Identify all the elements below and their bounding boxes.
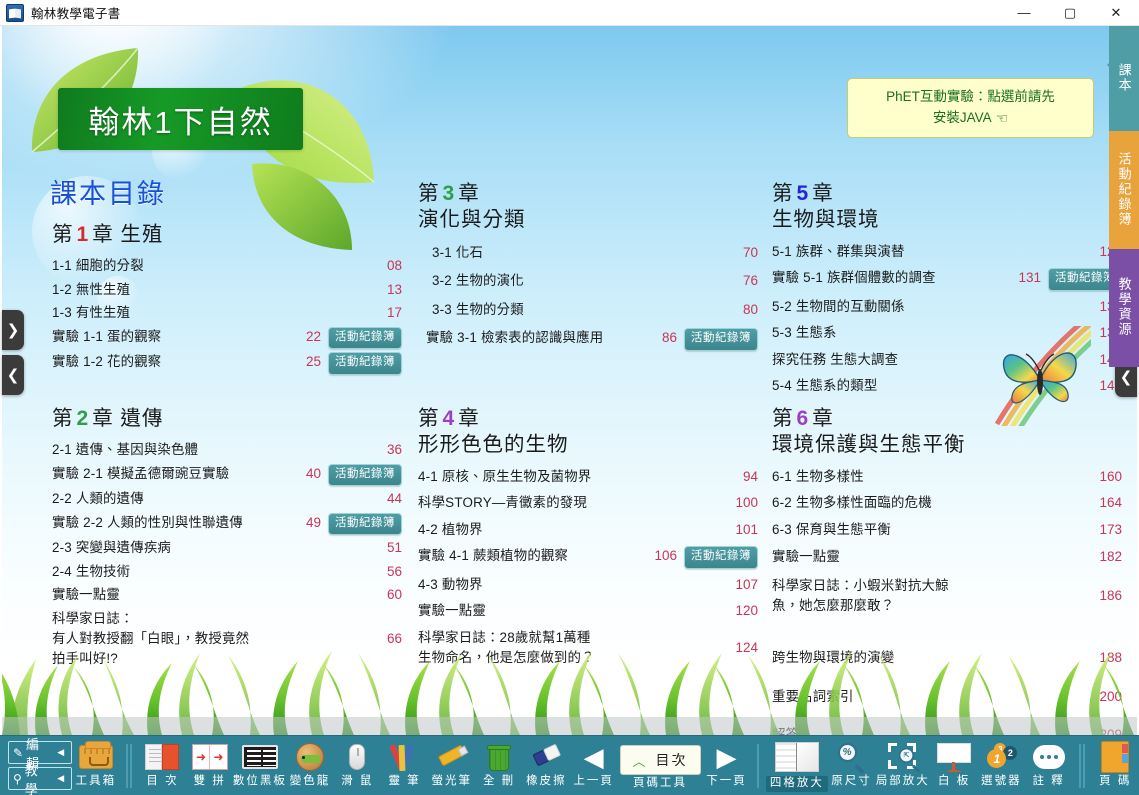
toc-entry[interactable]: 6-2 生物多樣性面臨的危機 164 — [772, 490, 1122, 517]
mouse-icon — [349, 740, 365, 774]
toc-entry[interactable]: 實驗 3-1 檢索表的認識與應用 86 活動紀錄簿 — [418, 324, 758, 355]
sidebar-tab-textbook[interactable]: 課本 — [1109, 26, 1139, 131]
toc-entry-label: 1-2 無性生殖 — [52, 280, 366, 300]
toolbox-icon — [79, 740, 113, 774]
toc-entry[interactable]: 實驗 2-1 模擬孟德爾豌豆實驗 40 活動紀錄簿 — [52, 462, 402, 488]
minimize-button[interactable]: — — [1001, 0, 1047, 26]
toc-entry[interactable]: 實驗 4-1 蕨類植物的觀察 106 活動紀錄簿 — [418, 543, 758, 572]
prev-page-button[interactable]: ◀ 上一頁 — [570, 736, 617, 795]
toc-entry-label: 4-2 植物界 — [418, 520, 718, 540]
actual-size-icon: % — [838, 740, 866, 774]
right-arrow-icon: ▶ — [716, 740, 736, 774]
chapter-name: 形形色色的生物 — [418, 432, 758, 457]
toolbar-separator — [757, 744, 759, 788]
next-page-label: 下一頁 — [706, 776, 747, 788]
toc-entry-page: 44 — [366, 489, 402, 510]
toc-column-2: 第3章 演化與分類 3-1 化石 70 3-2 生物的演化 76 — [418, 181, 758, 355]
chapter-prefix: 第 — [52, 223, 74, 246]
tool-highlighter-label: 螢光筆 — [432, 776, 473, 788]
book-title-text: 翰林1下自然 — [88, 97, 272, 142]
notebook-icon — [1101, 740, 1129, 774]
toc-entry[interactable]: 4-3 動物界 107 — [418, 572, 758, 599]
toc-entry[interactable]: 3-3 生物的分類 80 — [418, 296, 758, 325]
toc-entry-label: 實驗 4-1 蕨類植物的觀察 — [418, 546, 637, 566]
tool-toolbox-label: 工具箱 — [76, 776, 117, 788]
toc-entry-page: 60 — [366, 585, 402, 606]
toc-entry-label: 6-2 生物多樣性面臨的危機 — [772, 493, 1082, 513]
toc-entry-label: 5-1 族群、群集與演替 — [772, 242, 1082, 262]
tool-whiteboard[interactable]: 白 板 — [930, 736, 977, 795]
chapter-name: 生物與環境 — [772, 207, 1122, 232]
chapter-name: 生殖 — [120, 223, 163, 246]
chapter-block: 第4章 形形色色的生物 4-1 原核、原生生物及菌物界 94 科學STORY—青… — [418, 406, 758, 671]
tool-annotation[interactable]: 註 釋 — [1025, 736, 1072, 795]
chapter-name: 環境保護與生態平衡 — [772, 432, 1122, 457]
toc-entry-label: 實驗一點靈 — [52, 585, 366, 605]
toc-entry-label: 2-3 突變與遺傳疾病 — [52, 538, 366, 558]
toc-entry-page: 173 — [1082, 520, 1122, 541]
toc-entry[interactable]: 實驗 1-1 蛋的觀察 22 活動紀錄簿 — [52, 325, 402, 351]
toc-entry-page: 22 — [285, 327, 321, 348]
right-tab-rail: 課本 活動紀錄簿 教學資源 — [1109, 26, 1139, 367]
tool-eraser[interactable]: 橡皮擦 — [523, 736, 570, 795]
chapter-suffix: 章 — [458, 407, 480, 430]
tool-page-number-label: 頁 碼 — [1099, 776, 1131, 788]
toc-entry-page: 08 — [366, 256, 402, 277]
chapter-prefix: 第 — [418, 182, 440, 205]
window-title-bar: 翰林教學電子書 — ▢ ✕ — [0, 0, 1139, 26]
tool-magic-pen[interactable]: 靈 筆 — [381, 736, 428, 795]
phet-notice-line2-row: 安裝JAVA ☜ — [933, 108, 1008, 129]
chapter-number: 5 — [794, 182, 813, 205]
toc-entry-page: 13 — [366, 280, 402, 301]
toc-entry-label: 實驗一點靈 — [418, 601, 718, 621]
activity-record-badge[interactable]: 活動紀錄簿 — [684, 546, 758, 569]
sidebar-tab-activity-record-label: 活動紀錄簿 — [1116, 152, 1131, 227]
toc-entry[interactable]: 5-4 生態系的類型 148 — [772, 373, 1122, 400]
dual-page-icon: ➜➜ — [192, 740, 228, 774]
toc-entry[interactable]: 2-2 人類的遺傳 44 — [52, 488, 402, 512]
toc-entry[interactable]: 跨生物與環境的演變 188 — [772, 639, 1122, 678]
chapter-entry-list: 1-1 細胞的分裂 08 1-2 無性生殖 13 1-3 有性生殖 17 實 — [52, 255, 402, 377]
page-number-tool-button[interactable]: ︿ 目次 頁碼工具 — [617, 736, 703, 795]
chapter-entry-list: 6-1 生物多樣性 160 6-2 生物多樣性面臨的危機 164 6-3 保育與… — [772, 464, 1122, 621]
teach-mode-button[interactable]: ⚲ 教 學 ◀ — [8, 767, 72, 790]
chapter-prefix: 第 — [772, 407, 794, 430]
chapter-name: 遺傳 — [120, 407, 163, 430]
window-title: 翰林教學電子書 — [31, 3, 121, 22]
chapter-suffix: 章 — [92, 407, 114, 430]
chapter-entry-list: 4-1 原核、原生生物及菌物界 94 科學STORY—青黴素的發現 100 4-… — [418, 464, 758, 672]
toc-entry-page: 107 — [718, 575, 758, 596]
chapter-heading: 第2章 遺傳 — [52, 406, 402, 432]
tool-actual-size-label: 原尺寸 — [831, 776, 872, 788]
chapter-entry-list: 2-1 遺傳、基因與染色體 36 實驗 2-1 模擬孟德爾豌豆實驗 40 活動紀… — [52, 439, 402, 672]
chevron-up-icon: ︿ — [633, 751, 646, 770]
toc-entry-label: 實驗 1-1 蛋的觀察 — [52, 327, 285, 347]
toc-entry-label: 實驗 2-2 人類的性別與性聯遺傳 — [52, 513, 285, 533]
region-zoom-icon: ⇱ — [888, 740, 918, 774]
sidebar-tab-textbook-label: 課本 — [1116, 63, 1131, 93]
toc-entry-label: 實驗 1-2 花的觀察 — [52, 352, 285, 372]
toc-column-1-lower: 第2章 遺傳 2-1 遺傳、基因與染色體 36 實驗 2-1 模擬孟德爾豌豆實驗… — [52, 406, 402, 671]
toc-entry-page: 124 — [718, 638, 758, 659]
tool-chameleon-label: 變色龍 — [290, 776, 331, 788]
pointing-hand-icon: ☜ — [996, 108, 1009, 129]
phet-notice-line2: 安裝JAVA — [933, 108, 992, 128]
page-jump-pill[interactable]: ︿ 目次 — [620, 745, 701, 775]
toc-entry-label: 2-1 遺傳、基因與染色體 — [52, 440, 366, 460]
highlighter-icon — [437, 740, 467, 774]
page-number-tool-label: 頁碼工具 — [633, 778, 687, 790]
chapter-suffix: 章 — [92, 223, 114, 246]
toc-entry[interactable]: 1-2 無性生殖 13 — [52, 278, 402, 302]
toc-entry[interactable]: 實驗一點靈 60 — [52, 584, 402, 608]
toc-entry-page: 160 — [1082, 467, 1122, 488]
chapter-block: 第6章 環境保護與生態平衡 6-1 生物多樣性 160 6-2 生物多樣性面臨的… — [772, 406, 1122, 620]
toc-entry[interactable]: 6-3 保育與生態平衡 173 — [772, 517, 1122, 544]
toc-entry-page: 86 — [637, 328, 677, 349]
appendix-entry-list: 跨生物與環境的演變 188 重要名詞索引 200 解答 209 — [772, 639, 1122, 735]
chapter-entry-list: 5-1 族群、群集與演替 128 實驗 5-1 族群個體數的調查 131 活動紀… — [772, 239, 1122, 400]
toc-entry[interactable]: 4-2 植物界 101 — [418, 517, 758, 544]
toc-entry-label: 科學家日誌： 有人對教授翻「白眼」，教授竟然 拍手叫好!? — [52, 609, 366, 670]
toc-entry-page: 120 — [718, 601, 758, 622]
toc-entry[interactable]: 1-1 細胞的分裂 08 — [52, 255, 402, 279]
toc-entry[interactable]: 科學家日誌： 有人對教授翻「白眼」，教授竟然 拍手叫好!? 66 — [52, 607, 402, 671]
toc-entry[interactable]: 探究任務 生態大調查 144 — [772, 347, 1122, 374]
activity-record-badge[interactable]: 活動紀錄簿 — [684, 328, 758, 351]
tool-page-number[interactable]: 頁 碼 — [1092, 736, 1139, 795]
toc-entry-label: 2-4 生物技術 — [52, 562, 366, 582]
toc-entry-page: 164 — [1082, 493, 1122, 514]
activity-record-badge[interactable]: 活動紀錄簿 — [328, 352, 402, 375]
toc-entry[interactable]: 實驗 2-2 人類的性別與性聯遺傳 49 活動紀錄簿 — [52, 511, 402, 537]
toc-entry[interactable]: 科學家日誌：28歲就幫1萬種 生物命名，他是怎麼做到的？ 124 — [418, 625, 758, 672]
toc-entry[interactable]: 5-2 生物間的互動關係 134 — [772, 294, 1122, 321]
annotation-icon — [1033, 740, 1065, 774]
toc-column-1: 第1章 生殖 1-1 細胞的分裂 08 1-2 無性生殖 13 1-3 有性生殖 — [52, 222, 402, 376]
chapter-suffix: 章 — [458, 182, 480, 205]
toc-entry-label: 重要名詞索引 — [772, 687, 1082, 707]
tool-magic-pen-label: 靈 筆 — [388, 776, 420, 788]
toc-entry-page: 94 — [718, 467, 758, 488]
sidebar-tab-teaching-resources[interactable]: 教學資源 — [1109, 249, 1139, 367]
toc-entry[interactable]: 5-3 生態系 137 — [772, 320, 1122, 347]
chapter-suffix: 章 — [812, 407, 834, 430]
toc-entry-label: 實驗 3-1 檢索表的認識與應用 — [426, 328, 637, 348]
active-tab-caret-icon — [1100, 58, 1114, 72]
chapter-number: 3 — [440, 182, 459, 205]
toc-entry-page: 80 — [718, 300, 758, 321]
chapter-heading: 第3章 演化與分類 — [418, 181, 758, 232]
toc-entry-label: 6-1 生物多樣性 — [772, 467, 1082, 487]
chapter-number: 6 — [794, 407, 813, 430]
toc-entry[interactable]: 解答 209 — [772, 716, 1122, 735]
maximize-button[interactable]: ▢ — [1047, 0, 1093, 26]
toc-entry-page: 76 — [718, 271, 758, 292]
toc-entry[interactable]: 重要名詞索引 200 — [772, 678, 1122, 717]
toc-entry[interactable]: 實驗一點靈 120 — [418, 598, 758, 625]
toc-entry[interactable]: 2-4 生物技術 56 — [52, 560, 402, 584]
toc-entry-label: 3-1 化石 — [432, 243, 718, 263]
chapter-heading: 第4章 形形色色的生物 — [418, 406, 758, 457]
toc-entry-page: 25 — [285, 352, 321, 373]
toc-entry-page: 70 — [718, 243, 758, 264]
tool-delete-all[interactable]: 全 刪 — [475, 736, 522, 795]
toc-entry-page: 49 — [285, 513, 321, 534]
toc-entry[interactable]: 6-1 生物多樣性 160 — [772, 464, 1122, 491]
phet-notice-line1: PhET互動實驗：點選前請先 — [886, 87, 1055, 107]
prev-page-label: 上一頁 — [573, 776, 614, 788]
pencil-icon: ✎ — [13, 746, 23, 760]
toc-entry-label: 科學家日誌：小蝦米對抗大鯨 魚，她怎麼那麼敢？ — [772, 576, 1082, 617]
close-button[interactable]: ✕ — [1093, 0, 1139, 26]
blackboard-icon — [242, 740, 278, 774]
chapter-heading: 第6章 環境保護與生態平衡 — [772, 406, 1122, 457]
toc-entry-page: 209 — [1082, 725, 1122, 735]
book-title-plate: 翰林1下自然 — [58, 88, 303, 150]
toc-column-2-lower: 第4章 形形色色的生物 4-1 原核、原生生物及菌物界 94 科學STORY—青… — [418, 406, 758, 671]
activity-record-badge[interactable]: 活動紀錄簿 — [328, 464, 402, 487]
toc-entry[interactable]: 2-1 遺傳、基因與染色體 36 — [52, 439, 402, 463]
phet-java-notice[interactable]: PhET互動實驗：點選前請先 安裝JAVA ☜ — [847, 78, 1094, 138]
teach-mode-label: 教 學 — [25, 760, 55, 795]
tool-delete-all-label: 全 刪 — [483, 776, 515, 788]
tool-actual-size[interactable]: % 原尺寸 — [828, 736, 875, 795]
toc-entry-label: 5-2 生物間的互動關係 — [772, 297, 1082, 317]
mode-switch-group: ✎ 編 輯 ◀ ⚲ 教 學 ◀ — [0, 736, 72, 790]
tool-dual-page[interactable]: ➜➜ 雙 拼 — [186, 736, 233, 795]
tool-contents-label: 目 次 — [146, 776, 178, 788]
toc-column-3: 第5章 生物與環境 5-1 族群、群集與演替 128 實驗 5-1 族群個體數的… — [772, 181, 1122, 400]
toc-entry-label: 實驗 5-1 族群個體數的調查 — [772, 268, 1001, 288]
chapter-number: 2 — [74, 407, 93, 430]
tool-contents[interactable]: 目 次 — [139, 736, 186, 795]
toc-entry-page: 51 — [366, 538, 402, 559]
tool-region-zoom[interactable]: ⇱ 局部放大 — [875, 736, 930, 795]
toc-entry-page: 188 — [1082, 648, 1122, 669]
chameleon-icon — [296, 740, 324, 774]
trash-icon — [487, 740, 511, 774]
chapter-block: 第5章 生物與環境 5-1 族群、群集與演替 128 實驗 5-1 族群個體數的… — [772, 181, 1122, 400]
next-page-button[interactable]: ▶ 下一頁 — [703, 736, 750, 795]
toc-entry[interactable]: 4-1 原核、原生生物及菌物界 94 — [418, 464, 758, 491]
toc-entry-label: 2-2 人類的遺傳 — [52, 489, 366, 509]
tool-chameleon[interactable]: 變色龍 — [286, 736, 333, 795]
number-picker-icon: 321 — [985, 740, 1017, 774]
toc-entry-page: 106 — [637, 546, 677, 567]
tool-region-zoom-label: 局部放大 — [876, 776, 930, 788]
toc-entry[interactable]: 實驗 5-1 族群個體數的調查 131 活動紀錄簿 — [772, 265, 1122, 294]
bottom-toolbar: ✎ 編 輯 ◀ ⚲ 教 學 ◀ 工具箱 目 次 — [0, 735, 1139, 795]
chapter-entry-list: 3-1 化石 70 3-2 生物的演化 76 3-3 生物的分類 80 實驗 — [418, 239, 758, 355]
sidebar-tab-activity-record[interactable]: 活動紀錄簿 — [1109, 131, 1139, 249]
toc-entry-page: 131 — [1001, 268, 1041, 289]
tool-eraser-label: 橡皮擦 — [526, 776, 567, 788]
tool-mouse[interactable]: 滑 鼠 — [334, 736, 381, 795]
toc-entry[interactable]: 實驗 1-2 花的觀察 25 活動紀錄簿 — [52, 351, 402, 377]
tool-toolbox[interactable]: 工具箱 — [72, 736, 119, 795]
toc-entry-page: 186 — [1082, 586, 1122, 607]
toc-entry-page: 200 — [1082, 687, 1122, 708]
tool-quad-zoom[interactable]: 四格放大 — [766, 736, 828, 795]
book-page: 翰林1下自然 PhET互動實驗：點選前請先 安裝JAVA ☜ 課本目錄 — [2, 26, 1137, 735]
toc-entry-label: 3-3 生物的分類 — [432, 300, 718, 320]
toc-entry[interactable]: 實驗一點靈 182 — [772, 543, 1122, 572]
chapter-prefix: 第 — [52, 407, 74, 430]
tool-mouse-label: 滑 鼠 — [341, 776, 373, 788]
chapter-heading: 第1章 生殖 — [52, 222, 402, 248]
chapter-block: 第1章 生殖 1-1 細胞的分裂 08 1-2 無性生殖 13 1-3 有性生殖 — [52, 222, 402, 376]
toc-entry-page: 100 — [718, 493, 758, 514]
chapter-block: 第2章 遺傳 2-1 遺傳、基因與染色體 36 實驗 2-1 模擬孟德爾豌豆實驗… — [52, 406, 402, 671]
toc-entry[interactable]: 科學家日誌：小蝦米對抗大鯨 魚，她怎麼那麼敢？ 186 — [772, 572, 1122, 621]
book-app-icon — [6, 4, 24, 22]
toc-entry[interactable]: 3-1 化石 70 — [418, 239, 758, 268]
toc-entry-label: 實驗 2-1 模擬孟德爾豌豆實驗 — [52, 464, 285, 484]
toc-entry-page: 40 — [285, 464, 321, 485]
toc-entry-label: 4-1 原核、原生生物及菌物界 — [418, 467, 718, 487]
tool-highlighter[interactable]: 螢光筆 — [428, 736, 475, 795]
toc-entry[interactable]: 1-3 有性生殖 17 — [52, 302, 402, 326]
toolbar-separator — [126, 744, 131, 788]
toc-entry-label: 跨生物與環境的演變 — [772, 648, 1082, 668]
toc-entry-label: 科學家日誌：28歲就幫1萬種 生物命名，他是怎麼做到的？ — [418, 628, 718, 669]
toc-entry-page: 56 — [366, 562, 402, 583]
tool-annotation-label: 註 釋 — [1033, 776, 1065, 788]
tool-quad-zoom-label: 四格放大 — [766, 776, 828, 792]
current-page-label: 目次 — [656, 750, 688, 770]
magic-pen-icon — [390, 740, 420, 774]
toc-entry-label: 1-3 有性生殖 — [52, 303, 366, 323]
toc-entry-label: 5-3 生態系 — [772, 323, 1082, 343]
tool-digital-blackboard[interactable]: 數位黑板 — [233, 736, 286, 795]
book-page-viewport: 翰林1下自然 PhET互動實驗：點選前請先 安裝JAVA ☜ 課本目錄 — [2, 26, 1137, 735]
toc-entry[interactable]: 2-3 突變與遺傳疾病 51 — [52, 537, 402, 561]
tool-number-picker-label: 選號器 — [981, 776, 1022, 788]
tool-dual-page-label: 雙 拼 — [194, 776, 226, 788]
page-title: 課本目錄 — [50, 172, 166, 211]
eraser-icon — [531, 740, 561, 774]
toc-entry[interactable]: 5-1 族群、群集與演替 128 — [772, 239, 1122, 266]
chapter-number: 4 — [440, 407, 459, 430]
window-controls: — ▢ ✕ — [1001, 0, 1139, 26]
toc-entry-label: 3-2 生物的演化 — [432, 271, 718, 291]
sidebar-tab-teaching-resources-label: 教學資源 — [1116, 277, 1131, 337]
toc-entry-label: 科學STORY—青黴素的發現 — [418, 493, 718, 513]
activity-record-badge[interactable]: 活動紀錄簿 — [328, 513, 402, 536]
toc-entry-label: 5-4 生態系的類型 — [772, 376, 1082, 396]
toc-entry-page: 101 — [718, 520, 758, 541]
chapter-heading: 第5章 生物與環境 — [772, 181, 1122, 232]
left-arrow-icon: ◀ — [584, 740, 604, 774]
whiteboard-icon — [937, 740, 971, 774]
quad-zoom-icon — [775, 740, 819, 774]
toc-entry-page: 36 — [366, 440, 402, 461]
chapter-prefix: 第 — [772, 182, 794, 205]
chevron-left-icon: ◀ — [57, 747, 67, 758]
toc-entry-label: 探究任務 生態大調查 — [772, 350, 1082, 370]
expand-left-panel-button[interactable]: ❯ — [2, 310, 24, 350]
chapter-prefix: 第 — [418, 407, 440, 430]
contents-icon — [145, 740, 179, 774]
chapter-name: 演化與分類 — [418, 207, 758, 232]
toc-column-3-lower: 第6章 環境保護與生態平衡 6-1 生物多樣性 160 6-2 生物多樣性面臨的… — [772, 406, 1122, 735]
key-icon: ⚲ — [13, 772, 22, 786]
toc-entry[interactable]: 科學STORY—青黴素的發現 100 — [418, 490, 758, 517]
tool-number-picker[interactable]: 321 選號器 — [978, 736, 1025, 795]
toc-entry-page: 17 — [366, 303, 402, 324]
toc-entry-label: 解答 — [772, 725, 1082, 735]
chapter-number: 1 — [74, 223, 93, 246]
toc-entry-label: 實驗一點靈 — [772, 547, 1082, 567]
chevron-left-icon: ◀ — [57, 773, 67, 784]
collapse-left-panel-button[interactable]: ❮ — [2, 355, 24, 395]
activity-record-badge[interactable]: 活動紀錄簿 — [328, 327, 402, 350]
toc-entry-label: 6-3 保育與生態平衡 — [772, 520, 1082, 540]
toolbar-separator — [1079, 744, 1084, 788]
ebook-application-window: 翰林教學電子書 — ▢ ✕ — [0, 0, 1139, 795]
chapter-suffix: 章 — [812, 182, 834, 205]
toc-entry[interactable]: 3-2 生物的演化 76 — [418, 267, 758, 296]
toc-entry-page: 66 — [366, 629, 402, 650]
tool-digital-blackboard-label: 數位黑板 — [233, 776, 287, 788]
chapter-block: 第3章 演化與分類 3-1 化石 70 3-2 生物的演化 76 — [418, 181, 758, 355]
toc-entry-page: 182 — [1082, 547, 1122, 568]
toc-entry-label: 1-1 細胞的分裂 — [52, 256, 366, 276]
tool-whiteboard-label: 白 板 — [938, 776, 970, 788]
toc-entry-label: 4-3 動物界 — [418, 575, 718, 595]
